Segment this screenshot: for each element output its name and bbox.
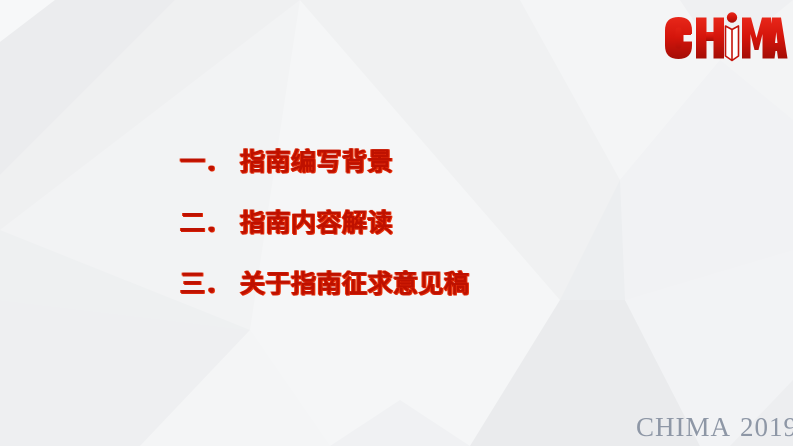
agenda-list: 一． 指南编写背景 二． 指南内容解读 三． 关于指南征求意见稿 <box>180 142 700 325</box>
agenda-item-2-number: 二． <box>180 203 231 239</box>
agenda-item-2-label: 指南内容解读 <box>240 203 393 239</box>
chima-logo-mark <box>662 12 788 64</box>
agenda-item-1[interactable]: 一． 指南编写背景 <box>180 142 700 203</box>
chima-logo[interactable] <box>662 12 788 64</box>
agenda-item-3-number: 三． <box>180 264 231 300</box>
logo-letter-h <box>696 18 724 59</box>
footer-brand: CHIMA2019 <box>636 412 793 443</box>
footer-brand-name: CHIMA <box>636 412 731 442</box>
footer-brand-year: 2019 <box>740 412 793 442</box>
agenda-item-1-number: 一． <box>180 142 231 178</box>
logo-letter-c <box>665 17 692 59</box>
agenda-item-3[interactable]: 三． 关于指南征求意见稿 <box>180 264 700 325</box>
agenda-item-3-label: 关于指南征求意见稿 <box>240 264 470 300</box>
agenda-item-1-label: 指南编写背景 <box>240 142 393 178</box>
agenda-item-2[interactable]: 二． 指南内容解读 <box>180 203 700 264</box>
slide-canvas: 一． 指南编写背景 二． 指南内容解读 三． 关于指南征求意见稿 <box>0 0 793 446</box>
open-book-i-icon <box>726 12 739 60</box>
